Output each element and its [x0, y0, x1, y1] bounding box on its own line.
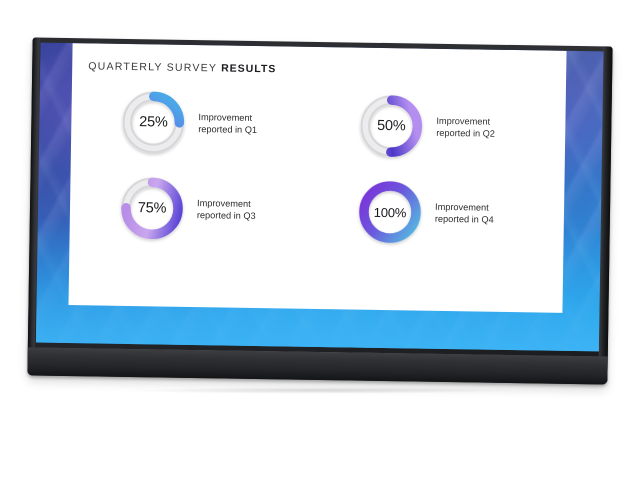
page-title-bold: RESULTS [221, 62, 276, 75]
metric-q2: 50% Improvement reported in Q2 [319, 91, 556, 163]
donut-chart-q1: 25% [119, 88, 188, 157]
metric-label-q3-line1: Improvement [197, 198, 251, 209]
monitor-screen: QUARTERLY SURVEY RESULTS [36, 43, 604, 352]
metric-label-q3: Improvement reported in Q3 [197, 197, 256, 223]
donut-chart-q2: 50% [357, 92, 426, 161]
donut-value-q4: 100% [355, 178, 424, 247]
metrics-grid: 25% Improvement reported in Q1 [79, 87, 555, 248]
product-photo-scene: QUARTERLY SURVEY RESULTS [0, 0, 640, 480]
computer-monitor: QUARTERLY SURVEY RESULTS [27, 37, 612, 384]
metric-label-q1: Improvement reported in Q1 [198, 111, 257, 137]
donut-chart-q3: 75% [117, 174, 186, 243]
donut-value-q1: 25% [119, 88, 188, 157]
metric-label-q1-line1: Improvement [198, 112, 252, 123]
donut-value-q3: 75% [117, 174, 186, 243]
monitor-drop-shadow [54, 386, 588, 395]
presentation-slide: QUARTERLY SURVEY RESULTS [68, 43, 566, 313]
donut-chart-q4: 100% [355, 178, 424, 247]
page-title: QUARTERLY SURVEY RESULTS [88, 60, 276, 75]
donut-value-q2: 50% [357, 92, 426, 161]
page-title-regular: QUARTERLY SURVEY [88, 60, 221, 74]
metric-label-q2-line1: Improvement [436, 115, 490, 126]
metric-q4: 100% Improvement reported in Q4 [317, 177, 554, 249]
metric-label-q3-line2: reported in Q3 [197, 210, 256, 221]
metric-label-q2-line2: reported in Q2 [436, 128, 495, 139]
metric-label-q4: Improvement reported in Q4 [435, 200, 494, 226]
metric-label-q1-line2: reported in Q1 [198, 124, 257, 135]
metric-label-q4-line1: Improvement [435, 201, 489, 212]
metric-q3: 75% Improvement reported in Q3 [79, 173, 316, 245]
metric-label-q2: Improvement reported in Q2 [436, 114, 495, 140]
metric-q1: 25% Improvement reported in Q1 [81, 87, 318, 159]
metric-label-q4-line2: reported in Q4 [435, 214, 494, 225]
